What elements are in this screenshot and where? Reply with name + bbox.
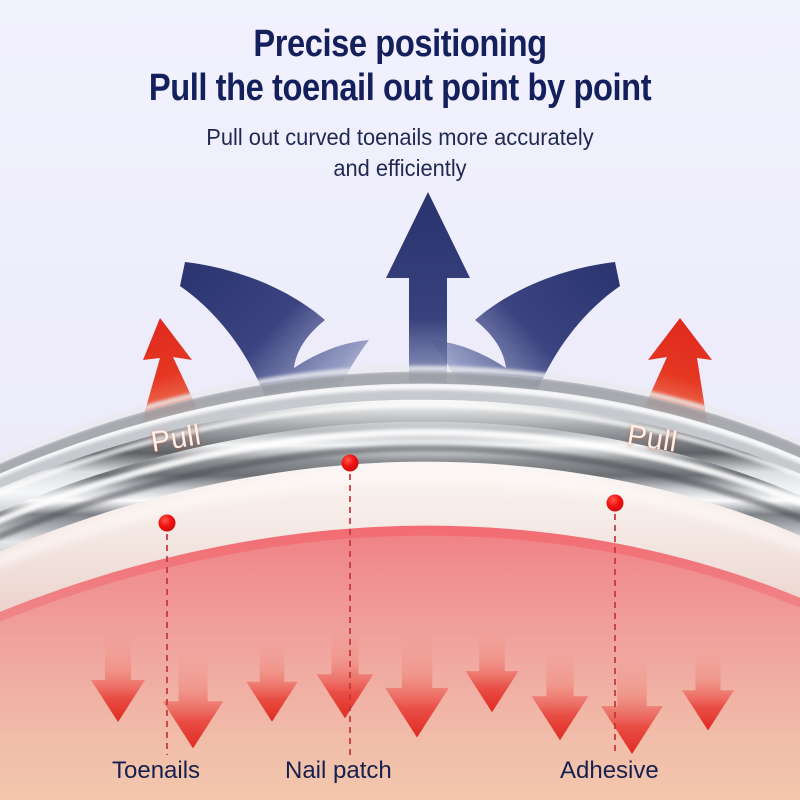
subheadline-line-2: and efficiently <box>20 153 780 184</box>
callout-label-nail-patch: Nail patch <box>285 757 392 785</box>
callout-label-adhesive: Adhesive <box>560 757 659 785</box>
marker-dot-nail-patch[interactable] <box>342 455 359 472</box>
subheadline-line-1: Pull out curved toenails more accurately <box>20 122 780 153</box>
marker-dot-toenails[interactable] <box>159 515 176 532</box>
nail-layer-stack <box>0 366 800 800</box>
headline-line-2: Pull the toenail out point by point <box>56 66 744 110</box>
page-title: Precise positioning Pull the toenail out… <box>56 22 744 110</box>
headline-line-1: Precise positioning <box>253 23 546 65</box>
page-subtitle: Pull out curved toenails more accurately… <box>20 122 780 184</box>
illustration-canvas <box>0 0 800 800</box>
callout-label-toenails: Toenails <box>112 757 200 785</box>
marker-dot-adhesive[interactable] <box>607 495 624 512</box>
product-infographic: Precise positioning Pull the toenail out… <box>0 0 800 800</box>
